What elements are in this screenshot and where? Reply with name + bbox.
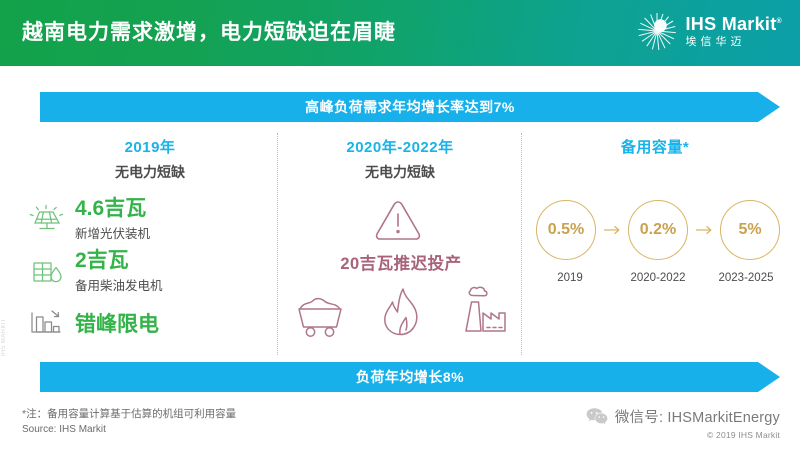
sunburst-icon — [636, 10, 678, 52]
page-title: 越南电力需求激增，电力短缺迫在眉睫 — [22, 16, 396, 46]
fuel-source-icons — [291, 285, 511, 339]
wechat-icon — [586, 407, 608, 426]
column-2-year: 2020年-2022年 — [285, 136, 515, 157]
side-watermark: IHS MARKIT — [1, 318, 7, 356]
fact-item-diesel: 2吉瓦 备用柴油发电机 — [26, 250, 163, 294]
reserve-circle-2020-2022: 0.2% — [628, 200, 688, 260]
fact-label-solar: 新增光伏装机 — [75, 223, 150, 242]
footnote-text: *注：备用容量计算基于估算的机组可利用容量 — [22, 406, 236, 422]
fact-item-loadshed: 错峰限电 — [26, 303, 159, 343]
fact-item-solar: 4.6吉瓦 新增光伏装机 — [26, 198, 150, 242]
reserve-circle-2019: 0.5% — [536, 200, 596, 260]
column-1-year: 2019年 — [30, 136, 270, 157]
wechat-block: 微信号: IHSMarkitEnergy © 2019 IHS Markit — [586, 406, 780, 440]
reserve-period-labels: 2019 2020-2022 2023-2025 — [530, 272, 786, 284]
fact-label-diesel: 备用柴油发电机 — [75, 275, 163, 294]
column-1-heading: 2019年 无电力短缺 — [30, 136, 270, 182]
arrow-right-icon-2 — [696, 225, 713, 235]
bar-chart-down-icon — [26, 303, 66, 343]
column-divider-1 — [277, 133, 278, 355]
coal-cart-icon — [291, 285, 349, 339]
logo-chinese-name: 埃信华迈 — [686, 37, 746, 48]
bottom-banner: 负荷年均增长8% — [40, 362, 780, 392]
oil-barrel-icon — [26, 252, 66, 292]
column-1-subtitle: 无电力短缺 — [30, 162, 270, 182]
fact-value-diesel: 2吉瓦 — [75, 250, 163, 272]
wechat-handle: 微信号: IHSMarkitEnergy — [615, 406, 780, 427]
arrow-right-icon-1 — [604, 225, 621, 235]
copyright-text: © 2019 IHS Markit — [586, 430, 780, 440]
column-3-heading: 备用容量* — [530, 136, 780, 157]
fact-value-solar: 4.6吉瓦 — [75, 198, 150, 220]
reserve-label-2019: 2019 — [530, 272, 610, 284]
reserve-circle-2023-2025: 5% — [720, 200, 780, 260]
power-plant-icon — [453, 285, 511, 339]
top-banner: 高峰负荷需求年均增长率达到7% — [40, 92, 780, 122]
reserve-label-2020-2022: 2020-2022 — [618, 272, 698, 284]
page-header: 越南电力需求激增，电力短缺迫在眉睫 IHS Markit® 埃信华迈 — [0, 0, 800, 66]
reserve-capacity-flow: 0.5% 0.2% 5% — [536, 200, 780, 260]
infographic-page: 越南电力需求激增，电力短缺迫在眉睫 IHS Markit® 埃信华迈 — [0, 0, 800, 450]
fact-value-loadshed: 错峰限电 — [75, 308, 159, 338]
solar-panel-icon — [26, 200, 66, 240]
column-2-subtitle: 无电力短缺 — [285, 162, 515, 182]
warning-triangle-icon — [372, 196, 424, 244]
column-3-title: 备用容量* — [530, 136, 780, 157]
logo-wordmark: IHS Markit® — [686, 15, 783, 33]
column-divider-2 — [521, 133, 522, 355]
source-text: Source: IHS Markit — [22, 422, 236, 438]
delayed-capacity-text: 20吉瓦推迟投产 — [285, 250, 517, 274]
flame-icon — [372, 285, 430, 339]
footnote-block: *注：备用容量计算基于估算的机组可利用容量 Source: IHS Markit — [22, 406, 236, 438]
reserve-label-2023-2025: 2023-2025 — [706, 272, 786, 284]
column-2-heading: 2020年-2022年 无电力短缺 — [285, 136, 515, 182]
brand-logo: IHS Markit® 埃信华迈 — [636, 10, 783, 52]
